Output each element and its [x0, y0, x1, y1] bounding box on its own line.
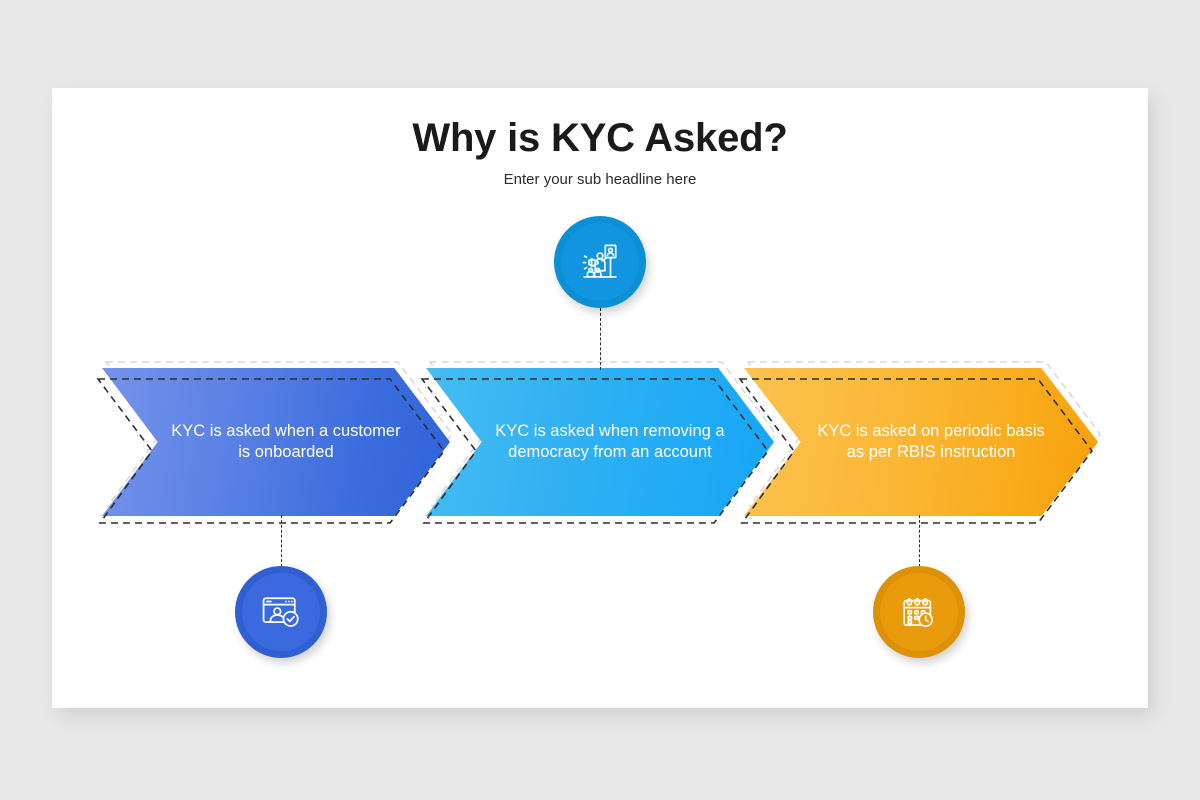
step-3-icon-inner	[880, 573, 958, 651]
step-1-icon-inner	[242, 573, 320, 651]
step-2-label: KYC is asked when removing a democracy f…	[482, 368, 733, 516]
process-step-2[interactable]: KYC is asked when removing a democracy f…	[426, 368, 774, 516]
step-1-label: KYC is asked when a customer is onboarde…	[158, 368, 409, 516]
step-2-icon-badge[interactable]	[554, 216, 646, 308]
connector-line-step-3	[919, 515, 920, 567]
verified-user-window-icon	[259, 590, 303, 634]
calendar-clock-icon	[898, 591, 940, 633]
step-3-icon-badge[interactable]	[873, 566, 965, 658]
step-3-label: KYC is asked on periodic basis as per RB…	[801, 368, 1056, 516]
presenter-megaphone-audience-icon	[579, 241, 621, 283]
step-1-icon-badge[interactable]	[235, 566, 327, 658]
process-step-1[interactable]: KYC is asked when a customer is onboarde…	[102, 368, 450, 516]
connector-line-step-2	[600, 308, 601, 370]
slide-root: Why is KYC Asked? Enter your sub headlin…	[0, 0, 1200, 800]
process-step-3[interactable]: KYC is asked on periodic basis as per RB…	[744, 368, 1098, 516]
slide-card: Why is KYC Asked? Enter your sub headlin…	[52, 88, 1148, 708]
connector-line-step-1	[281, 515, 282, 567]
process-flow-diagram: KYC is asked when a customer is onboarde…	[52, 88, 1148, 708]
step-2-icon-inner	[561, 223, 639, 301]
